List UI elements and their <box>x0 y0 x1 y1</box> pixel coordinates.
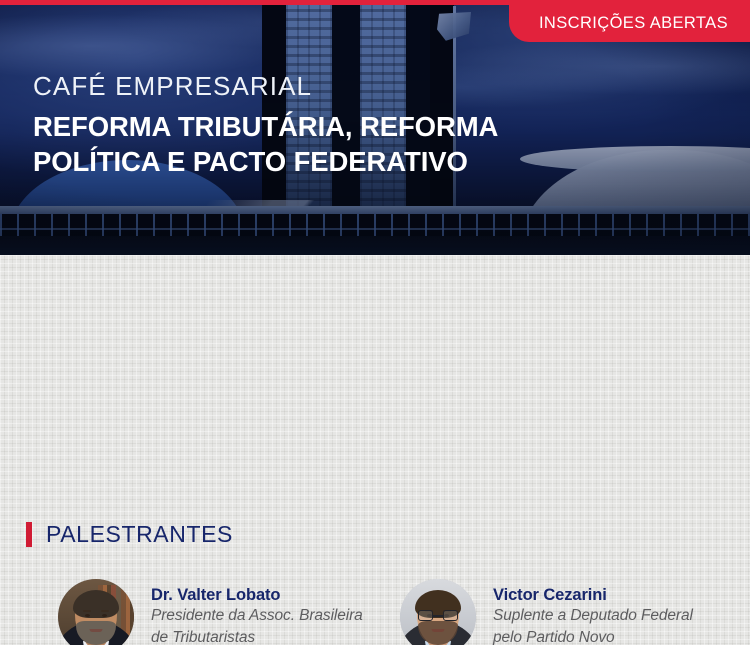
event-poster: CAFÉ EMPRESARIAL REFORMA TRIBUTÁRIA, REF… <box>0 0 750 645</box>
speaker-card[interactable]: Victor Cezarini Suplente a Deputado Fede… <box>380 565 740 645</box>
top-accent-rule <box>0 0 750 5</box>
speaker-name: Dr. Valter Lobato <box>151 586 363 605</box>
speaker-role-line: de Tributaristas <box>151 628 363 645</box>
hero-text-block: CAFÉ EMPRESARIAL REFORMA TRIBUTÁRIA, REF… <box>33 72 498 179</box>
speakers-section-title: PALESTRANTES <box>46 521 233 548</box>
speaker-role-line: Suplente a Deputado Federal <box>493 606 693 627</box>
speaker-role-line: Presidente da Assoc. Brasileira <box>151 606 363 627</box>
speakers-grid: Dr. Valter Lobato Presidente da Assoc. B… <box>0 565 750 645</box>
hero-kicker: CAFÉ EMPRESARIAL <box>33 72 498 101</box>
registration-open-badge[interactable]: INSCRIÇÕES ABERTAS <box>509 5 750 42</box>
avatar <box>400 579 476 645</box>
avatar-portrait-valter-lobato <box>58 579 134 645</box>
hero-title-line-2: POLÍTICA E PACTO FEDERATIVO <box>33 144 498 179</box>
glasses-icon <box>418 610 458 622</box>
speaker-info: Dr. Valter Lobato Presidente da Assoc. B… <box>151 586 363 645</box>
avatar <box>58 579 134 645</box>
section-accent-bar <box>26 522 32 547</box>
speaker-name: Victor Cezarini <box>493 586 693 605</box>
speaker-role-line: pelo Partido Novo <box>493 628 693 645</box>
avatar-portrait-victor-cezarini <box>400 579 476 645</box>
hero-title-line-1: REFORMA TRIBUTÁRIA, REFORMA <box>33 109 498 144</box>
speaker-card[interactable]: Dr. Valter Lobato Presidente da Assoc. B… <box>0 565 380 645</box>
speakers-section: PALESTRANTES <box>0 255 750 645</box>
registration-open-badge-label: INSCRIÇÕES ABERTAS <box>539 14 728 33</box>
speakers-section-header: PALESTRANTES <box>26 521 233 548</box>
speaker-info: Victor Cezarini Suplente a Deputado Fede… <box>493 586 693 645</box>
